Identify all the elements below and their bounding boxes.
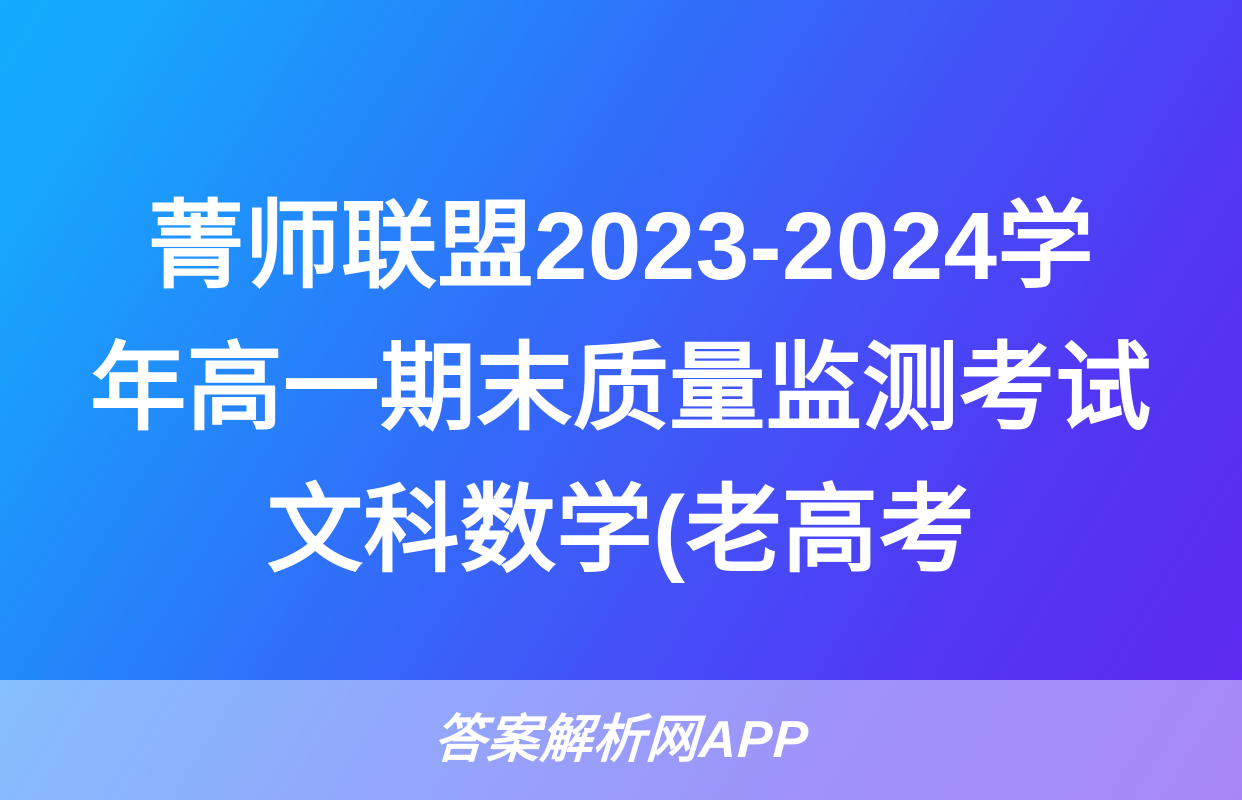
exam-cover-poster: 菁师联盟2023-2024学 年高一期末质量监测考试 文科数学(老高考 答案解析… <box>0 0 1242 800</box>
title-line-3: 文科数学(老高考 <box>18 460 1224 602</box>
title-line-2: 年高一期末质量监测考试 <box>18 318 1224 460</box>
watermark-text: 答案解析网APP <box>432 714 810 766</box>
footer-band: 答案解析网APP <box>0 680 1242 800</box>
title-line-1: 菁师联盟2023-2024学 <box>18 176 1224 318</box>
page-title: 菁师联盟2023-2024学 年高一期末质量监测考试 文科数学(老高考 <box>0 176 1242 602</box>
